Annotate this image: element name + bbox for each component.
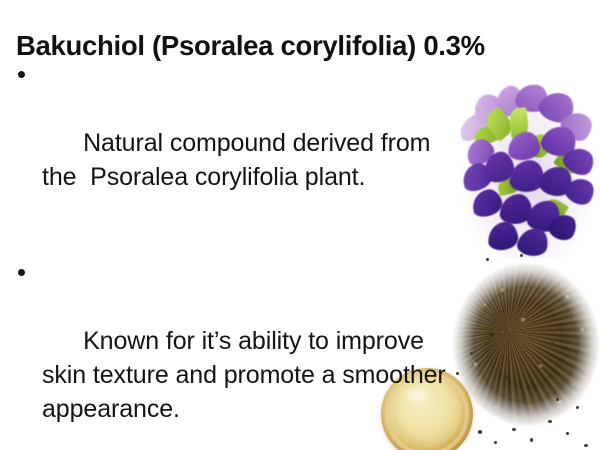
flower-leaf — [541, 196, 569, 223]
seed-speck — [576, 406, 579, 409]
flower-petal — [487, 221, 519, 251]
seed-speck — [548, 420, 552, 423]
bullet-marker-icon — [18, 269, 25, 276]
flower-petal — [559, 142, 598, 180]
bullet-text: Known for it’s ability to improve skin t… — [42, 327, 453, 423]
seed-speck — [486, 258, 489, 261]
flower-leaf — [482, 106, 517, 142]
bullet-item: Natural compound derived from the Psoral… — [14, 58, 454, 228]
flower-petal — [524, 196, 564, 236]
flower-leaf — [508, 107, 529, 139]
seed-speck — [494, 441, 497, 444]
flower-petal — [482, 150, 516, 184]
flower-petal — [556, 106, 597, 147]
seed-speck — [456, 372, 459, 375]
bakuchiol-seed-pile-photo — [452, 262, 600, 427]
seed-speck — [556, 398, 559, 401]
flower-leaf — [521, 231, 543, 250]
flower-petal — [455, 109, 495, 144]
bullet-text: Natural compound derived from the Psoral… — [42, 129, 437, 191]
flower-glow — [460, 90, 592, 258]
flower-petal — [561, 172, 599, 209]
flower-petal — [535, 86, 579, 128]
flower-leaf — [553, 149, 583, 178]
flower-petal — [469, 187, 504, 219]
slide-canvas: Bakuchiol (Psoralea corylifolia) 0.3% Na… — [0, 0, 600, 450]
seed-speck — [520, 254, 523, 257]
flower-leaf — [497, 176, 522, 196]
seed-speck — [530, 438, 533, 442]
flower-petal — [515, 225, 550, 259]
flower-petal — [538, 121, 580, 160]
psoralea-corylifolia-flower-photo — [452, 82, 600, 267]
seed-speck — [566, 432, 569, 435]
flower-petal — [545, 209, 580, 244]
flower-petal — [494, 84, 527, 118]
bullet-list: Natural compound derived from the Psoral… — [14, 58, 454, 450]
flower-petal — [507, 131, 541, 161]
flower-petal — [468, 89, 506, 127]
flower-petal — [462, 135, 497, 168]
bullet-marker-icon — [18, 71, 25, 78]
flower-petal — [513, 81, 551, 116]
seed-speck — [584, 444, 588, 447]
flower-leaf — [526, 131, 554, 161]
flower-petal — [536, 161, 576, 200]
seed-speck — [470, 352, 473, 355]
flower-petal — [509, 159, 545, 193]
seed-speck — [478, 430, 482, 434]
flower-petal — [499, 193, 532, 224]
seed-speck — [512, 428, 516, 431]
flower-leaf — [472, 122, 506, 147]
bullet-item: Known for it’s ability to improve skin t… — [14, 256, 454, 450]
seed-speck — [458, 436, 461, 439]
flower-petal — [458, 160, 495, 195]
